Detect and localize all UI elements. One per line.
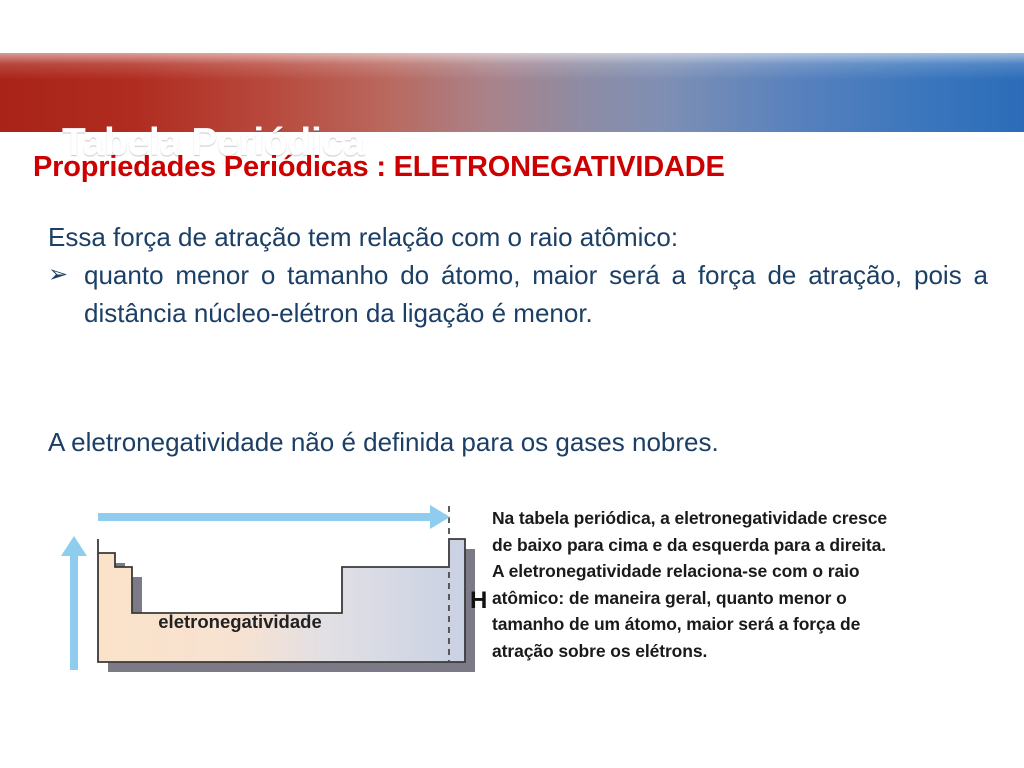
hydrogen-label: H bbox=[470, 589, 487, 613]
body-text-block: Essa força de atração tem relação com o … bbox=[48, 218, 988, 332]
periodic-table-silhouette-svg: eletronegatividade bbox=[50, 492, 510, 682]
noble-gases-note: A eletronegatividade não é definida para… bbox=[48, 423, 988, 461]
header-banner: Tabela Periódica bbox=[0, 53, 1024, 132]
bottom-to-top-increase-arrow-icon bbox=[61, 536, 87, 670]
diagram-label: eletronegatividade bbox=[158, 611, 321, 632]
caption-line: Na tabela periódica, a eletronegatividad… bbox=[492, 505, 1002, 532]
caption-line: tamanho de um átomo, maior será a força … bbox=[492, 611, 1002, 638]
arrow-bullet-icon: ➢ bbox=[48, 256, 68, 294]
diagram-caption: Na tabela periódica, a eletronegatividad… bbox=[492, 505, 1002, 664]
periodic-table-silhouette bbox=[98, 539, 465, 662]
electronegativity-diagram: eletronegatividade bbox=[50, 492, 510, 682]
bullet-item: ➢ quanto menor o tamanho do átomo, maior… bbox=[48, 256, 988, 332]
section-heading: Propriedades Periódicas : ELETRONEGATIVI… bbox=[33, 151, 1013, 184]
caption-line: atração sobre os elétrons. bbox=[492, 638, 1002, 665]
bullet-item-label: quanto menor o tamanho do átomo, maior s… bbox=[84, 260, 988, 328]
caption-line: de baixo para cima e da esquerda para a … bbox=[492, 532, 1002, 559]
caption-line: atômico: de maneira geral, quanto menor … bbox=[492, 585, 1002, 612]
caption-line: A eletronegatividade relaciona-se com o … bbox=[492, 558, 1002, 585]
intro-line: Essa força de atração tem relação com o … bbox=[48, 218, 988, 256]
left-to-right-increase-arrow-icon bbox=[98, 505, 450, 529]
slide-canvas: Tabela Periódica Propriedades Periódicas… bbox=[0, 0, 1024, 768]
